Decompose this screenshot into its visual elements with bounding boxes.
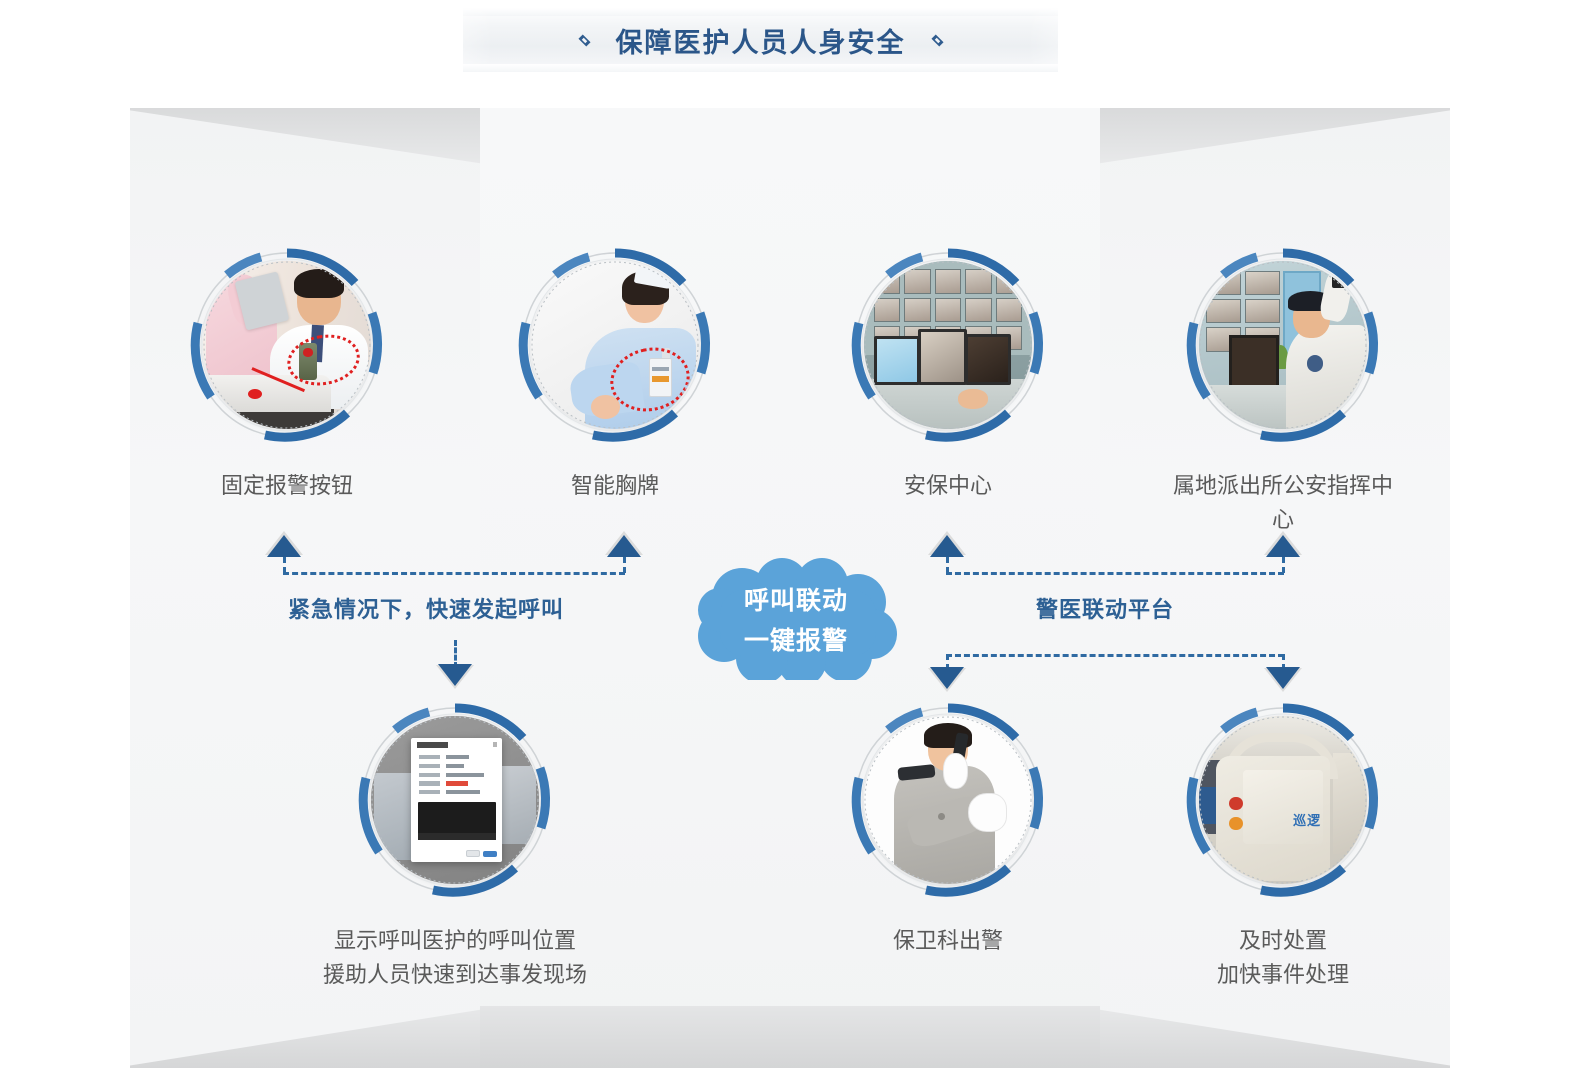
decorative-ring-icon — [1183, 245, 1383, 445]
decorative-ring-icon — [848, 700, 1048, 900]
circle-frame — [1183, 245, 1383, 445]
node-label: 属地派出所公安指挥中心 — [1163, 469, 1403, 537]
cloud-line-2: 一键报警 — [744, 621, 848, 657]
circle-frame — [515, 245, 715, 445]
cloud-callout: 呼叫联动 一键报警 — [690, 558, 902, 680]
circle-frame — [187, 245, 387, 445]
decorative-ring-icon — [1183, 700, 1383, 900]
decorative-ring-icon — [848, 245, 1048, 445]
dash-vertical-right-b — [1282, 557, 1285, 573]
banner-fade-left — [403, 8, 493, 72]
diamond-right-icon — [931, 34, 943, 46]
dash-horizontal-right-bottom — [946, 654, 1284, 657]
node-guard-dispatch[interactable]: 保卫科出警 — [828, 700, 1068, 958]
connector-label-right: 警医联动平台 — [1036, 592, 1174, 624]
title-banner: 保障医护人员人身安全 — [463, 8, 1058, 72]
node-smart-badge[interactable]: 智能胸牌 — [495, 245, 735, 503]
cloud-line-1: 呼叫联动 — [744, 581, 848, 617]
arrow-up-security-center — [930, 535, 964, 557]
back-floor — [480, 1006, 1100, 1068]
node-label: 及时处置 加快事件处理 — [1163, 924, 1403, 992]
node-fixed-alarm-button[interactable]: 固定报警按钮 — [167, 245, 407, 503]
arrow-up-police-center — [1266, 535, 1300, 557]
diamond-left-icon — [578, 34, 590, 46]
arrow-down-to-guard — [930, 667, 964, 689]
banner-fade-right — [1028, 8, 1118, 72]
connector-label-left: 紧急情况下，快速发起呼叫 — [288, 592, 564, 624]
arrow-down-to-vehicle — [1266, 667, 1300, 689]
dash-vertical-left-a — [283, 557, 286, 573]
arrow-down-to-location — [438, 664, 472, 686]
dash-vertical-left-b — [623, 557, 626, 573]
node-label: 固定报警按钮 — [167, 469, 407, 503]
decorative-ring-icon — [515, 245, 715, 445]
dash-vertical-right-a — [946, 557, 949, 573]
node-label: 智能胸牌 — [495, 469, 735, 503]
circle-frame — [848, 700, 1048, 900]
node-label: 保卫科出警 — [828, 924, 1068, 958]
arrow-up-alarm-button — [267, 535, 301, 557]
circle-frame — [355, 700, 555, 900]
dash-horizontal-right-top — [946, 572, 1284, 575]
dash-horizontal-left — [283, 572, 625, 575]
node-label: 显示呼叫医护的呼叫位置 援助人员快速到达事发现场 — [275, 924, 635, 992]
decorative-ring-icon — [355, 700, 555, 900]
circle-frame: 巡逻 — [1183, 700, 1383, 900]
node-timely-handling[interactable]: 巡逻 及时处置 加快事件处理 — [1163, 700, 1403, 992]
page-title: 保障医护人员人身安全 — [616, 21, 906, 60]
decorative-ring-icon — [187, 245, 387, 445]
circle-frame — [848, 245, 1048, 445]
node-security-center[interactable]: 安保中心 — [828, 245, 1068, 503]
node-label: 安保中心 — [828, 469, 1068, 503]
arrow-up-smart-badge — [607, 535, 641, 557]
node-call-location-display[interactable]: 显示呼叫医护的呼叫位置 援助人员快速到达事发现场 — [335, 700, 575, 992]
node-police-command-center[interactable]: 属地派出所公安指挥中心 — [1163, 245, 1403, 537]
